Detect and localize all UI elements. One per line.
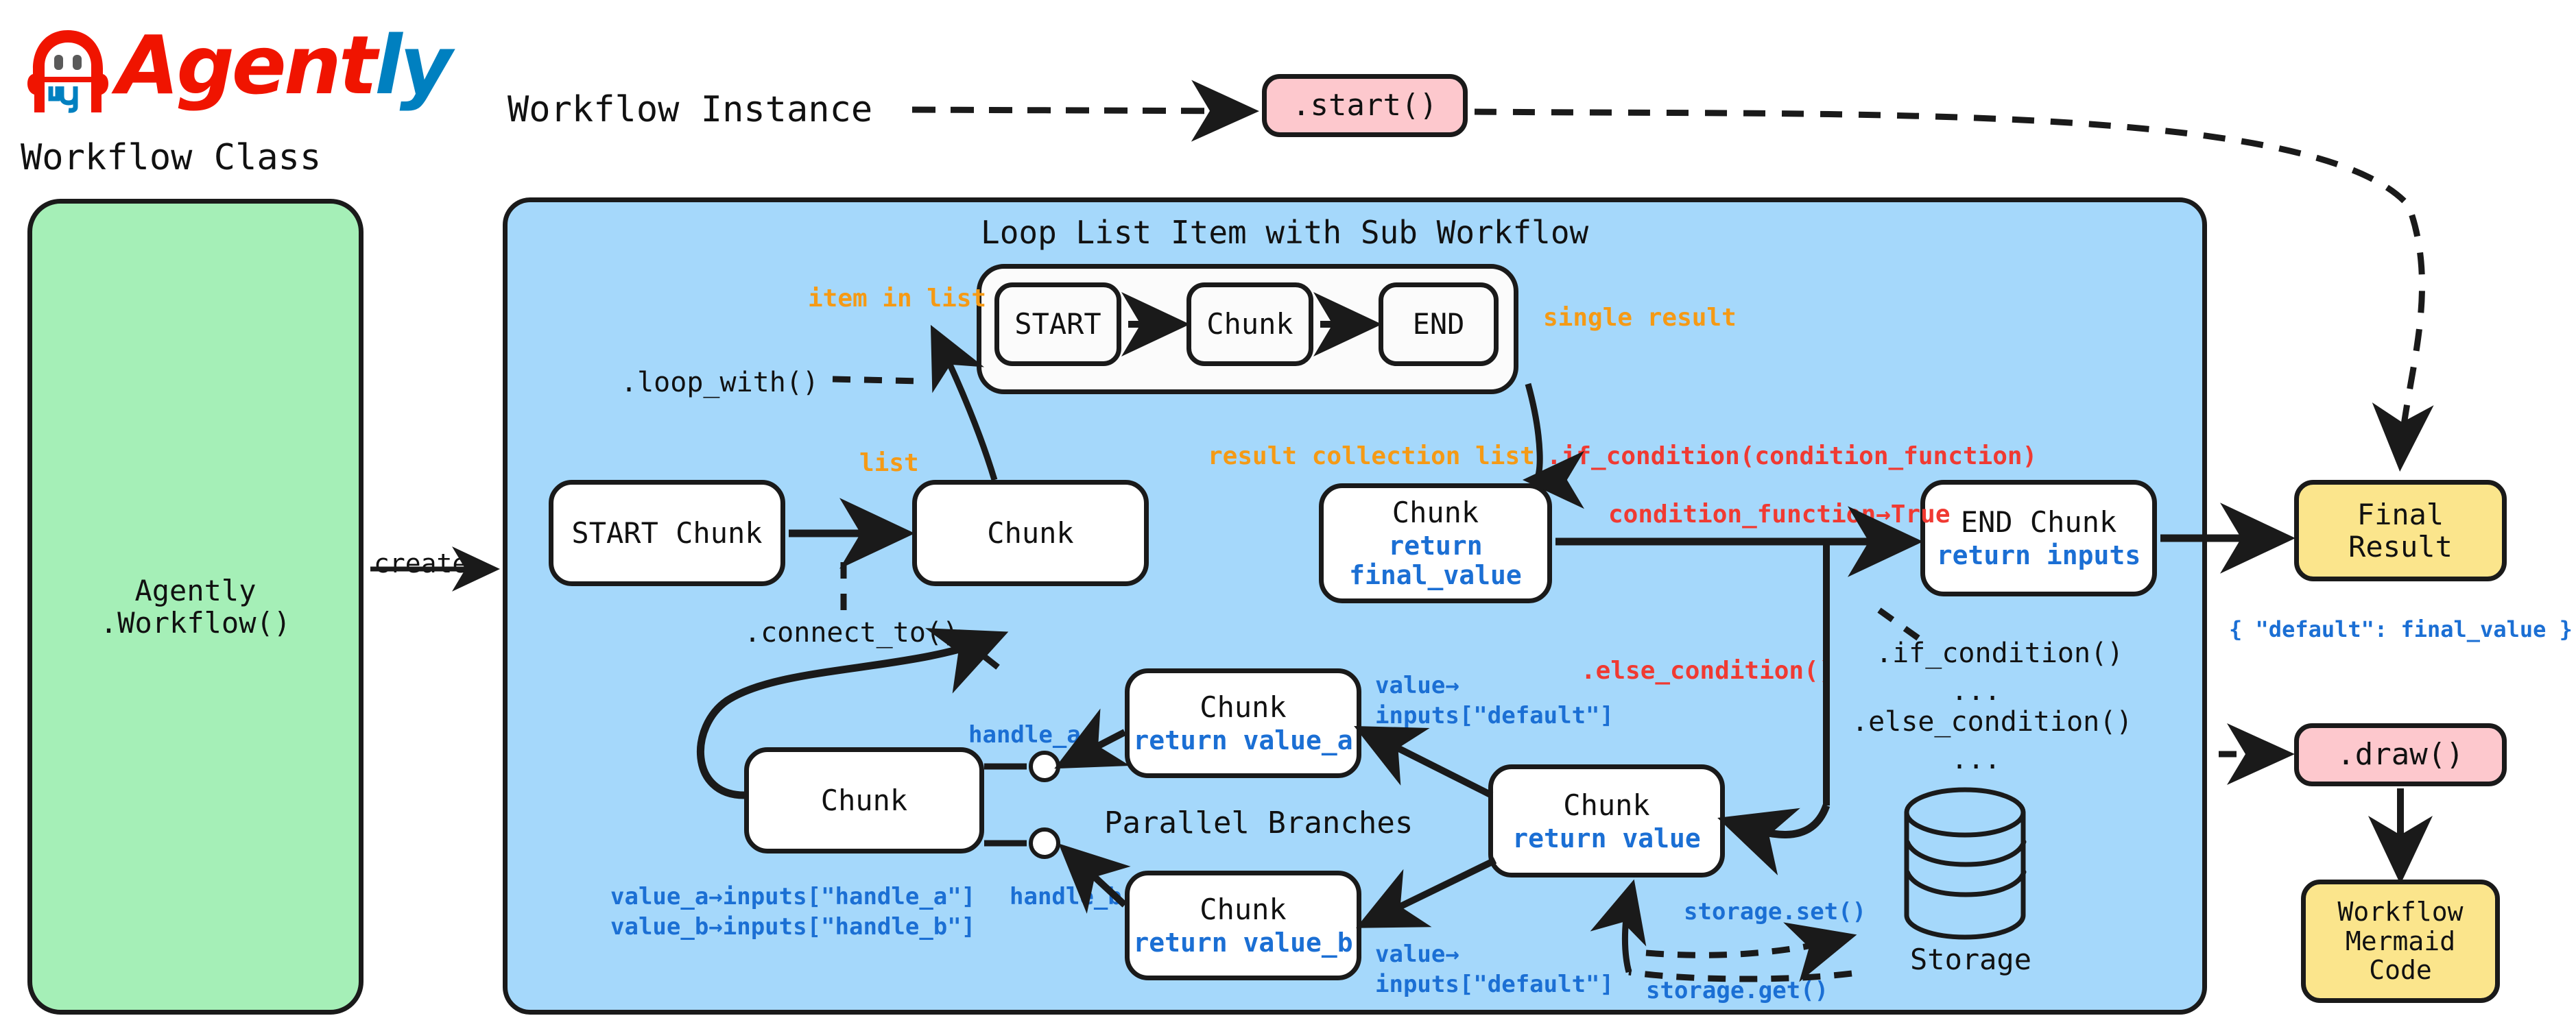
- branch-b-chunk-node[interactable]: Chunk return value_b: [1125, 871, 1361, 980]
- final-result-label: Final Result: [2299, 498, 2502, 563]
- mermaid-output-box[interactable]: Workflow Mermaid Code: [2301, 880, 2500, 1003]
- if-condition-short-label: .if_condition(): [1876, 638, 2123, 670]
- loop-with-label: .loop_with(): [621, 367, 819, 399]
- start-method-label: .start(): [1292, 88, 1438, 122]
- if-condition-call-label: .if_condition(condition_function): [1547, 442, 2037, 471]
- storage-get-label: storage.get(): [1646, 977, 1828, 1004]
- list-chunk-label: Chunk: [987, 517, 1073, 549]
- storage-set-label: storage.set(): [1684, 898, 1866, 925]
- edge-instance-to-start: [912, 110, 1247, 111]
- draw-method-label: .draw(): [2337, 738, 2464, 771]
- storage-title-label: Storage: [1910, 943, 2031, 977]
- handle-a-port[interactable]: [1029, 751, 1060, 782]
- sub-end-node[interactable]: END: [1379, 282, 1499, 366]
- value-default-top-line2: inputs["default"]: [1375, 702, 1614, 729]
- branch-source-chunk-node[interactable]: Chunk: [744, 747, 984, 854]
- final-value-chunk-ret2: final_value: [1349, 561, 1522, 590]
- logo-text-agent: Agent: [117, 18, 374, 112]
- start-method-box[interactable]: .start(): [1262, 74, 1468, 137]
- value-map-b-label: value_b→inputs["handle_b"]: [610, 913, 975, 941]
- end-chunk-node[interactable]: END Chunk return inputs: [1920, 480, 2157, 596]
- mermaid-line2: Mermaid: [2346, 927, 2455, 956]
- list-label: list: [859, 449, 919, 478]
- final-result-payload-label: { "default": final_value }: [2229, 617, 2573, 643]
- branch-b-chunk-ret: return value_b: [1133, 928, 1352, 958]
- branch-b-chunk-title: Chunk: [1200, 893, 1286, 925]
- branch-source-chunk-label: Chunk: [821, 784, 907, 816]
- connect-to-label: .connect_to(): [744, 617, 959, 649]
- final-value-chunk-title: Chunk: [1392, 496, 1479, 529]
- single-result-label: single result: [1543, 304, 1737, 332]
- else-condition-call-label: .else_condition(): [1581, 657, 1833, 686]
- final-result-box[interactable]: Final Result: [2294, 480, 2507, 581]
- diagram-canvas: Agently Workflow Class Workflow Instance…: [0, 0, 2576, 1029]
- final-value-chunk-ret1: return: [1388, 531, 1482, 561]
- workflow-class-line1: Agently: [134, 574, 256, 607]
- final-value-chunk-node[interactable]: Chunk return final_value: [1319, 483, 1552, 603]
- sub-end-label: END: [1413, 308, 1465, 340]
- ellipsis-1-label: ...: [1951, 675, 2001, 707]
- value-chunk-title: Chunk: [1563, 789, 1649, 821]
- sub-start-label: START: [1014, 308, 1101, 340]
- start-chunk-label: START Chunk: [571, 517, 762, 549]
- mermaid-line3: Code: [2369, 956, 2432, 985]
- ellipsis-2-label: ...: [1951, 744, 2001, 776]
- agently-robot-icon: [26, 27, 110, 115]
- branch-a-chunk-title: Chunk: [1200, 691, 1286, 723]
- parallel-branches-title: Parallel Branches: [1104, 806, 1413, 841]
- handle-b-port[interactable]: [1029, 827, 1060, 859]
- draw-method-box[interactable]: .draw(): [2294, 723, 2507, 786]
- list-chunk-node[interactable]: Chunk: [912, 480, 1149, 586]
- workflow-class-heading: Workflow Class: [21, 137, 321, 179]
- handle-b-label: handle_b: [1010, 883, 1122, 910]
- sub-start-node[interactable]: START: [994, 282, 1121, 366]
- sub-chunk-label: Chunk: [1206, 308, 1293, 340]
- start-chunk-node[interactable]: START Chunk: [549, 480, 785, 586]
- value-chunk-ret: return value: [1512, 824, 1701, 854]
- workflow-class-box[interactable]: Agently .Workflow(): [27, 199, 363, 1015]
- logo-text-ly: ly: [374, 18, 449, 112]
- end-chunk-title: END Chunk: [1961, 506, 2117, 538]
- value-default-bottom-line1: value→: [1375, 941, 1459, 968]
- sub-chunk-node[interactable]: Chunk: [1186, 282, 1313, 366]
- handle-a-label: handle_a: [968, 721, 1081, 749]
- branch-a-chunk-ret: return value_a: [1133, 726, 1352, 755]
- else-condition-short-label: .else_condition(): [1852, 706, 2132, 738]
- agently-logo: Agently: [14, 12, 466, 115]
- value-chunk-node[interactable]: Chunk return value: [1488, 764, 1725, 877]
- mermaid-line1: Workflow: [2337, 897, 2463, 927]
- workflow-instance-heading: Workflow Instance: [508, 89, 872, 131]
- workflow-class-line2: .Workflow(): [100, 607, 291, 639]
- result-collection-list-label: result collection list: [1208, 442, 1535, 471]
- value-map-a-label: value_a→inputs["handle_a"]: [610, 883, 975, 910]
- loop-section-title: Loop List Item with Sub Workflow: [981, 214, 1588, 251]
- branch-a-chunk-node[interactable]: Chunk return value_a: [1125, 668, 1361, 778]
- value-default-bottom-line2: inputs["default"]: [1375, 971, 1614, 998]
- create-edge-label: create: [374, 548, 468, 579]
- item-in-list-label: item in list: [808, 285, 986, 313]
- end-chunk-ret: return inputs: [1937, 541, 2140, 570]
- condition-true-label: condition_function→True: [1608, 500, 1951, 529]
- value-default-top-line1: value→: [1375, 672, 1459, 699]
